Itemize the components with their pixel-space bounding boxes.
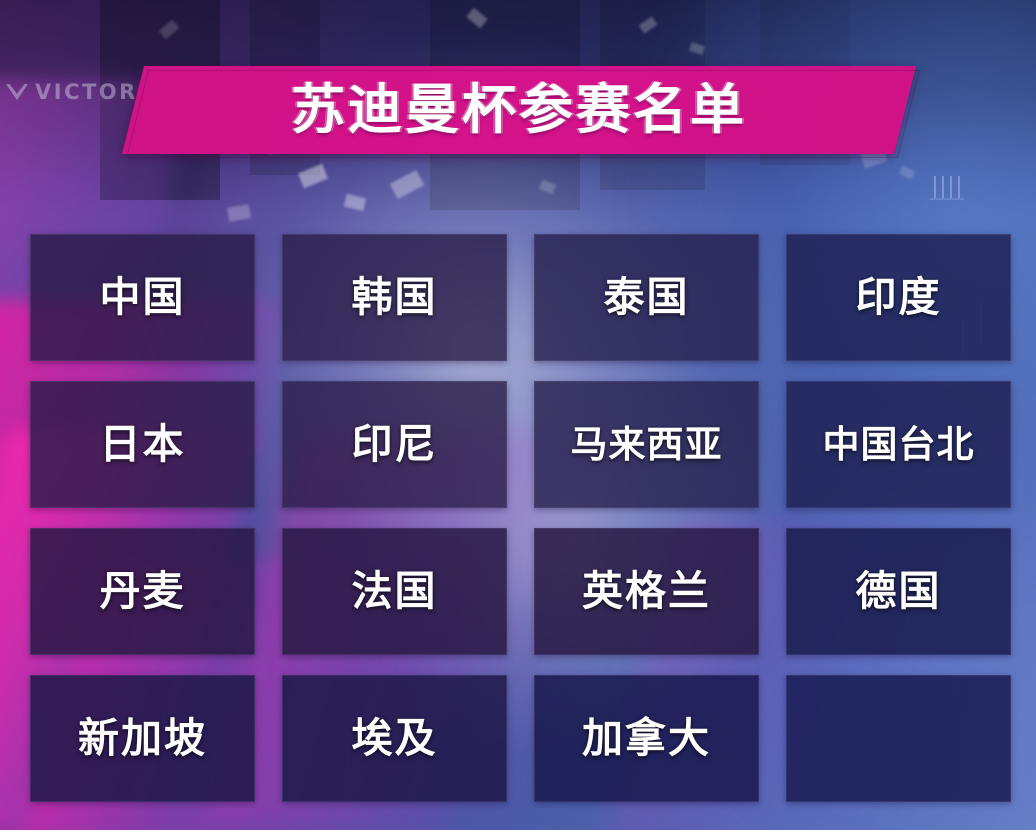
country-cell[interactable]: 印度 [786,234,1011,361]
background-rigging-line [930,198,964,200]
country-cell[interactable]: 中国台北 [786,381,1011,508]
country-label: 英格兰 [582,571,711,612]
country-label: 韩国 [352,277,438,318]
country-cell[interactable]: 埃及 [282,675,507,802]
country-cell[interactable]: 中国 [30,234,255,361]
country-label: 马来西亚 [571,426,723,463]
background-rigging-line [942,176,944,198]
country-label: 日本 [100,424,186,465]
country-cell[interactable]: 加拿大 [534,675,759,802]
country-cell[interactable]: 丹麦 [30,528,255,655]
country-label: 德国 [856,571,942,612]
country-label: 泰国 [604,277,690,318]
country-cell[interactable]: 韩国 [282,234,507,361]
background-rigging-line [950,176,952,198]
country-cell[interactable]: 印尼 [282,381,507,508]
country-label: 埃及 [352,718,438,759]
page-title: 苏迪曼杯参赛名单 [0,66,1036,154]
country-cell[interactable]: 法国 [282,528,507,655]
country-label: 法国 [352,571,438,612]
country-label: 新加坡 [78,718,207,759]
country-cell[interactable]: 马来西亚 [534,381,759,508]
country-label: 印尼 [352,424,438,465]
title-banner: 苏迪曼杯参赛名单 [0,66,1036,158]
country-cell-empty[interactable] [786,675,1011,802]
background-rigging-line [958,176,960,198]
country-grid: 中国 韩国 泰国 印度 日本 印尼 马来西亚 中国台北 丹麦 法国 英格兰 德国… [30,234,1010,802]
country-cell[interactable]: 德国 [786,528,1011,655]
poster-canvas: VICTOR 苏迪曼杯参赛名单 中国 韩国 泰国 印度 日本 印尼 马来西亚 中… [0,0,1036,830]
country-label: 印度 [856,277,942,318]
country-cell[interactable]: 泰国 [534,234,759,361]
country-cell[interactable]: 英格兰 [534,528,759,655]
country-label: 加拿大 [582,718,711,759]
country-label: 丹麦 [100,571,186,612]
country-cell[interactable]: 新加坡 [30,675,255,802]
country-label: 中国 [100,277,186,318]
country-cell[interactable]: 日本 [30,381,255,508]
background-rigging-line [934,176,936,198]
country-label: 中国台北 [823,426,975,463]
